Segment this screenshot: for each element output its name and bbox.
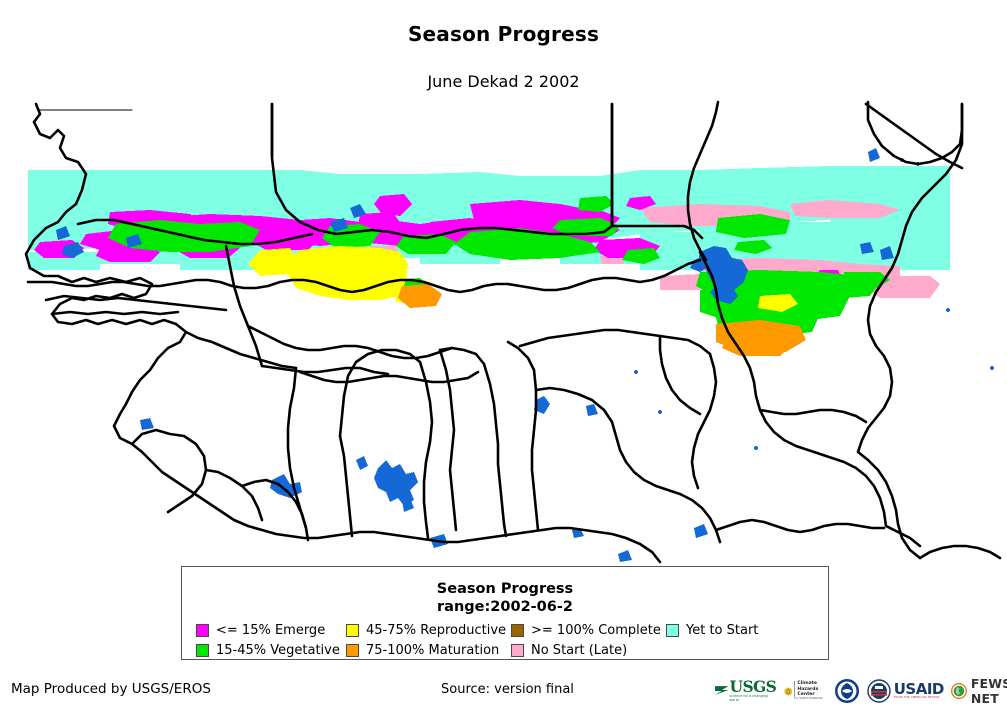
legend-label-reproductive: 45-75% Reproductive bbox=[366, 623, 506, 638]
legend-item-maturation[interactable]: 75-100% Maturation bbox=[346, 642, 511, 659]
chc-logo: Climate Hazards Center UC SANTA BARBARA bbox=[784, 677, 827, 705]
footer-produced-by: Map Produced by USGS/EROS bbox=[11, 681, 211, 697]
usgs-tagline: science for a changing world bbox=[730, 694, 777, 702]
legend-item-reproductive[interactable]: 45-75% Reproductive bbox=[346, 622, 511, 639]
legend-label-emerge: <= 15% Emerge bbox=[216, 623, 325, 638]
fewsnet-globe-icon bbox=[951, 679, 967, 703]
usgs-wordmark: USGS bbox=[730, 680, 777, 694]
map-canvas[interactable] bbox=[0, 100, 1007, 565]
legend-column-2: 45-75% Reproductive 75-100% Maturation bbox=[346, 622, 511, 659]
legend-label-vegetative: 15-45% Vegetative bbox=[216, 643, 340, 658]
map-svg[interactable] bbox=[0, 100, 1007, 565]
legend-item-emerge[interactable]: <= 15% Emerge bbox=[196, 622, 346, 639]
usaid-seal-icon bbox=[867, 679, 891, 703]
noaa-seal-icon bbox=[834, 678, 860, 704]
usaid-logo: USAID FROM THE AMERICAN PEOPLE bbox=[867, 677, 944, 705]
legend-item-no-start-late[interactable]: No Start (Late) bbox=[511, 642, 666, 659]
footer-logos: USGS science for a changing world Climat… bbox=[714, 676, 1007, 706]
legend-label-no-start-late: No Start (Late) bbox=[531, 643, 627, 658]
legend-swatch-no-start-late bbox=[511, 644, 524, 657]
legend-swatch-complete bbox=[511, 624, 524, 637]
chc-tagline: UC SANTA BARBARA bbox=[794, 697, 826, 700]
fewsnet-wordmark: FEWS NET bbox=[971, 676, 1007, 706]
legend-range: range:2002-06-2 bbox=[182, 598, 828, 616]
legend-column-1: <= 15% Emerge 15-45% Vegetative bbox=[188, 622, 346, 659]
legend-swatch-yet-to-start bbox=[666, 624, 679, 637]
legend-swatch-vegetative bbox=[196, 644, 209, 657]
legend-item-complete[interactable]: >= 100% Complete bbox=[511, 622, 666, 639]
page-title: Season Progress bbox=[0, 22, 1007, 46]
legend-label-yet-to-start: Yet to Start bbox=[686, 623, 758, 638]
fewsnet-logo: FEWS NET bbox=[951, 677, 1007, 705]
usgs-logo: USGS science for a changing world bbox=[714, 677, 777, 705]
usaid-wordmark: USAID bbox=[894, 682, 944, 696]
legend-label-complete: >= 100% Complete bbox=[531, 623, 661, 638]
chc-wordmark: Climate Hazards Center bbox=[794, 681, 826, 697]
footer-source: Source: version final bbox=[441, 682, 574, 697]
noaa-logo bbox=[834, 677, 860, 705]
legend-title: Season Progress bbox=[182, 580, 828, 598]
legend-item-yet-to-start[interactable]: Yet to Start bbox=[666, 622, 816, 639]
raster-season-progress bbox=[28, 166, 950, 356]
usaid-tagline: FROM THE AMERICAN PEOPLE bbox=[894, 696, 944, 699]
legend-column-4: Yet to Start bbox=[666, 622, 816, 659]
legend-label-maturation: 75-100% Maturation bbox=[366, 643, 499, 658]
legend-swatch-emerge bbox=[196, 624, 209, 637]
chc-droplet-icon bbox=[784, 683, 793, 700]
legend-item-vegetative[interactable]: 15-45% Vegetative bbox=[196, 642, 346, 659]
map-legend: Season Progress range:2002-06-2 <= 15% E… bbox=[181, 566, 829, 660]
legend-columns: <= 15% Emerge 15-45% Vegetative 45-75% R… bbox=[182, 622, 828, 659]
page-subtitle: June Dekad 2 2002 bbox=[0, 72, 1007, 91]
usgs-mark-icon bbox=[714, 684, 730, 698]
legend-swatch-reproductive bbox=[346, 624, 359, 637]
legend-column-3: >= 100% Complete No Start (Late) bbox=[511, 622, 666, 659]
legend-swatch-maturation bbox=[346, 644, 359, 657]
